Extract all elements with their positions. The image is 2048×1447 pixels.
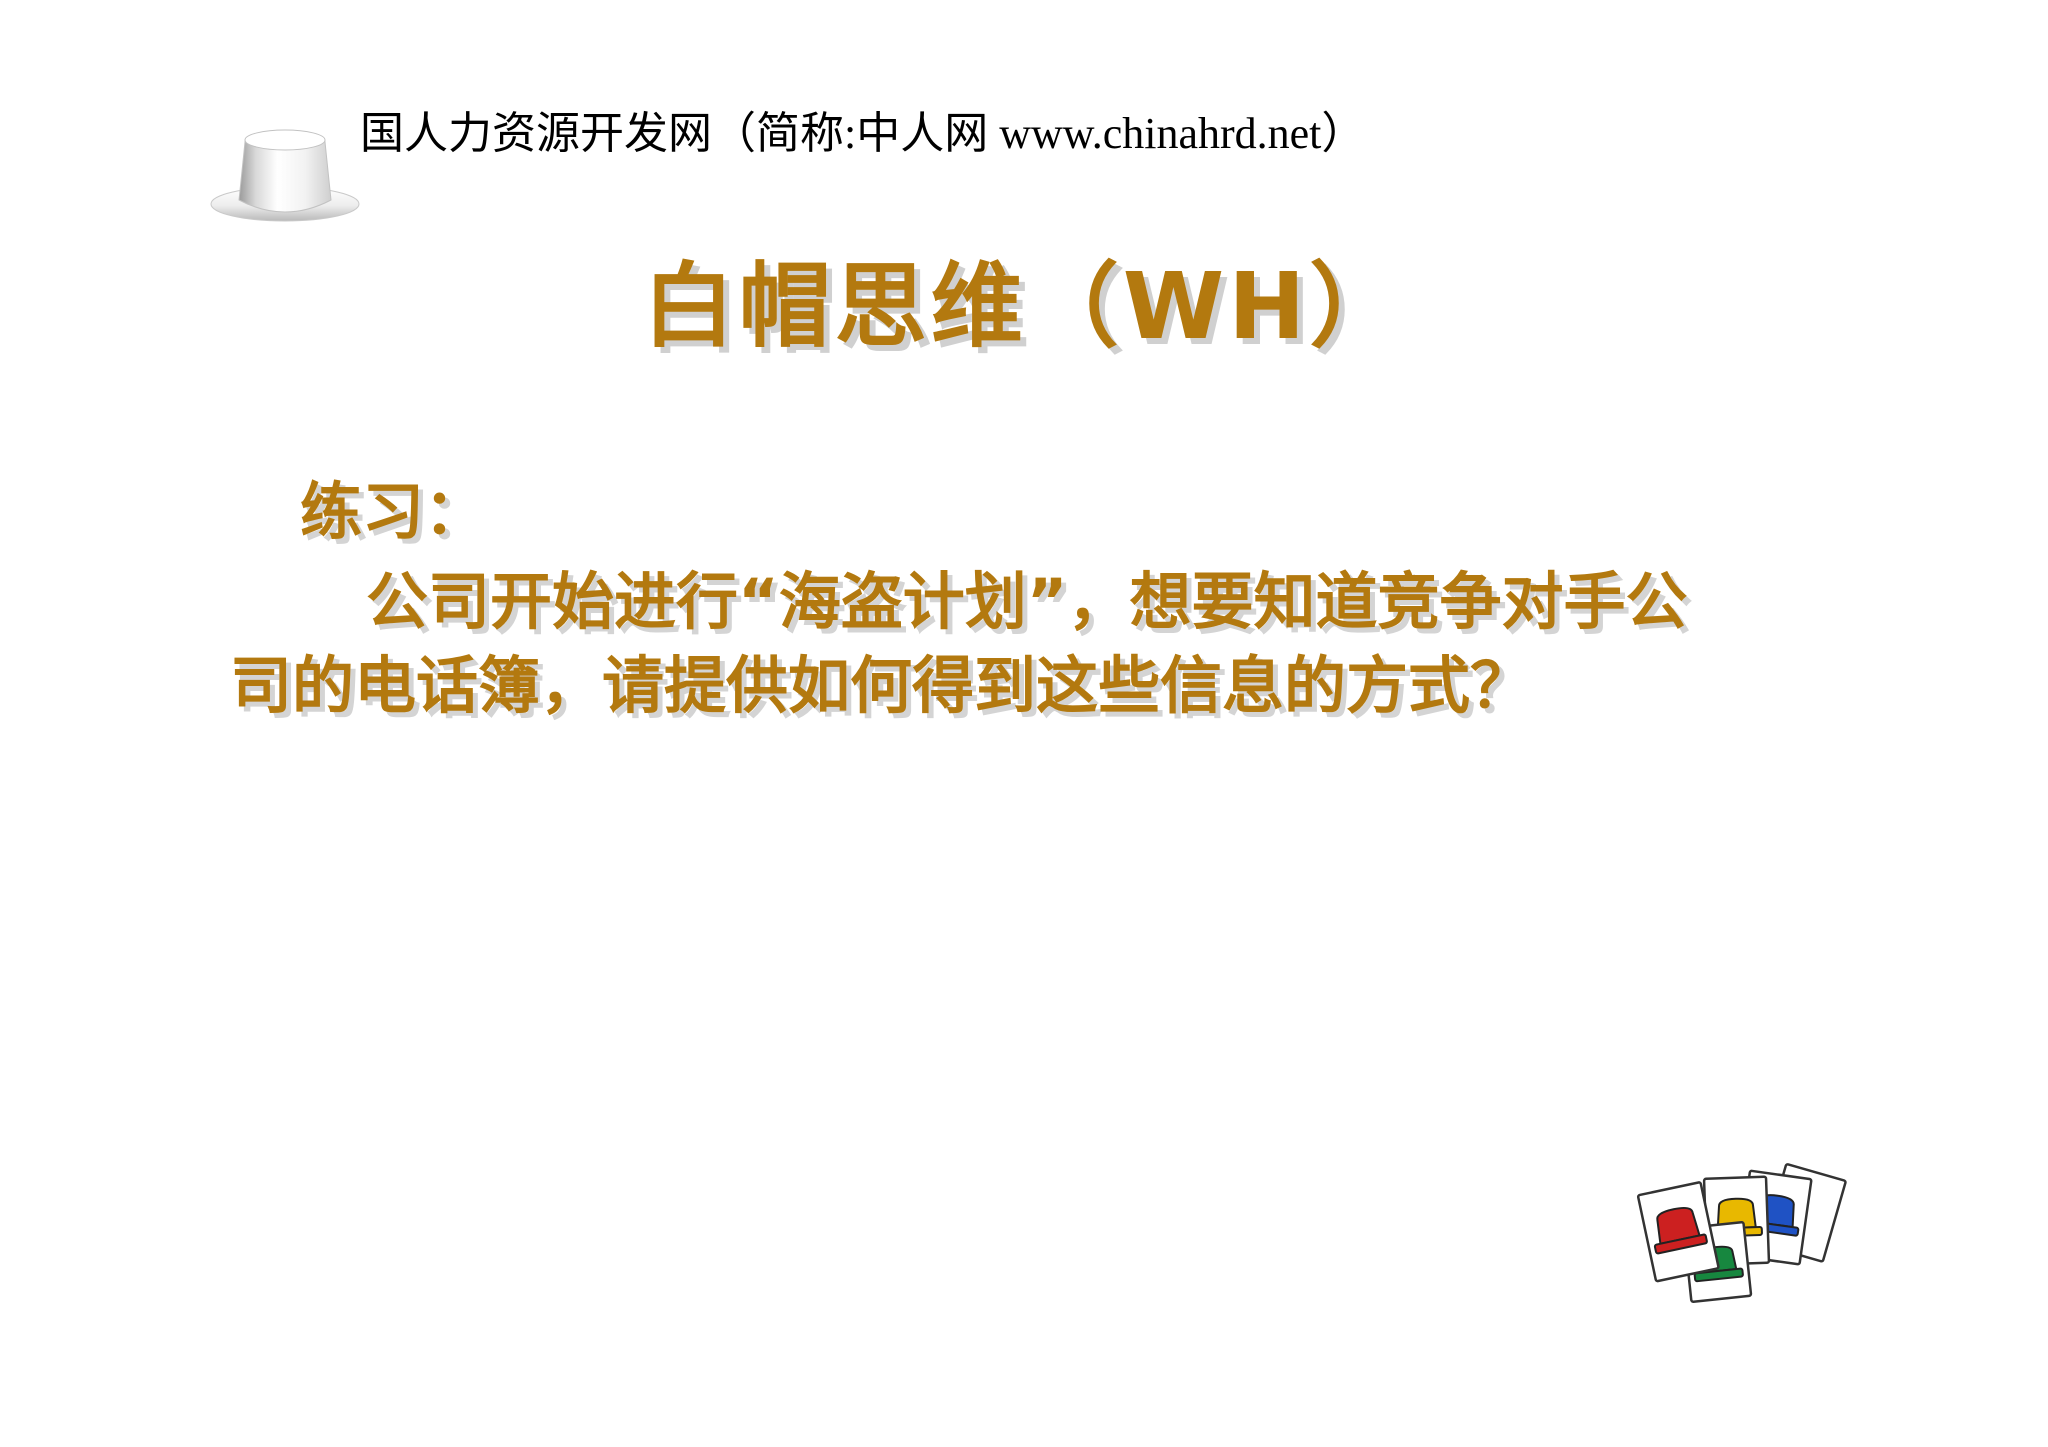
body-content: 练习： 公司开始进行“海盗计划”，想要知道竞争对手公司的电话簿，请提供如何得到这… bbox=[300, 470, 1750, 728]
six-thinking-hats-cards-icon bbox=[1630, 1140, 1860, 1325]
exercise-paragraph: 公司开始进行“海盗计划”，想要知道竞争对手公司的电话簿，请提供如何得到这些信息的… bbox=[230, 560, 1700, 728]
page-title: 白帽思维（WH） bbox=[0, 255, 2048, 359]
exercise-label: 练习： bbox=[300, 470, 1750, 554]
site-header-text: 国人力资源开发网（简称:中人网 www.chinahrd.net） bbox=[360, 105, 1365, 163]
slide-canvas: 国人力资源开发网（简称:中人网 www.chinahrd.net） 白帽思维（W… bbox=[0, 0, 2048, 1447]
slide-header: 国人力资源开发网（简称:中人网 www.chinahrd.net） bbox=[0, 105, 2048, 185]
white-top-hat-icon bbox=[205, 120, 370, 230]
